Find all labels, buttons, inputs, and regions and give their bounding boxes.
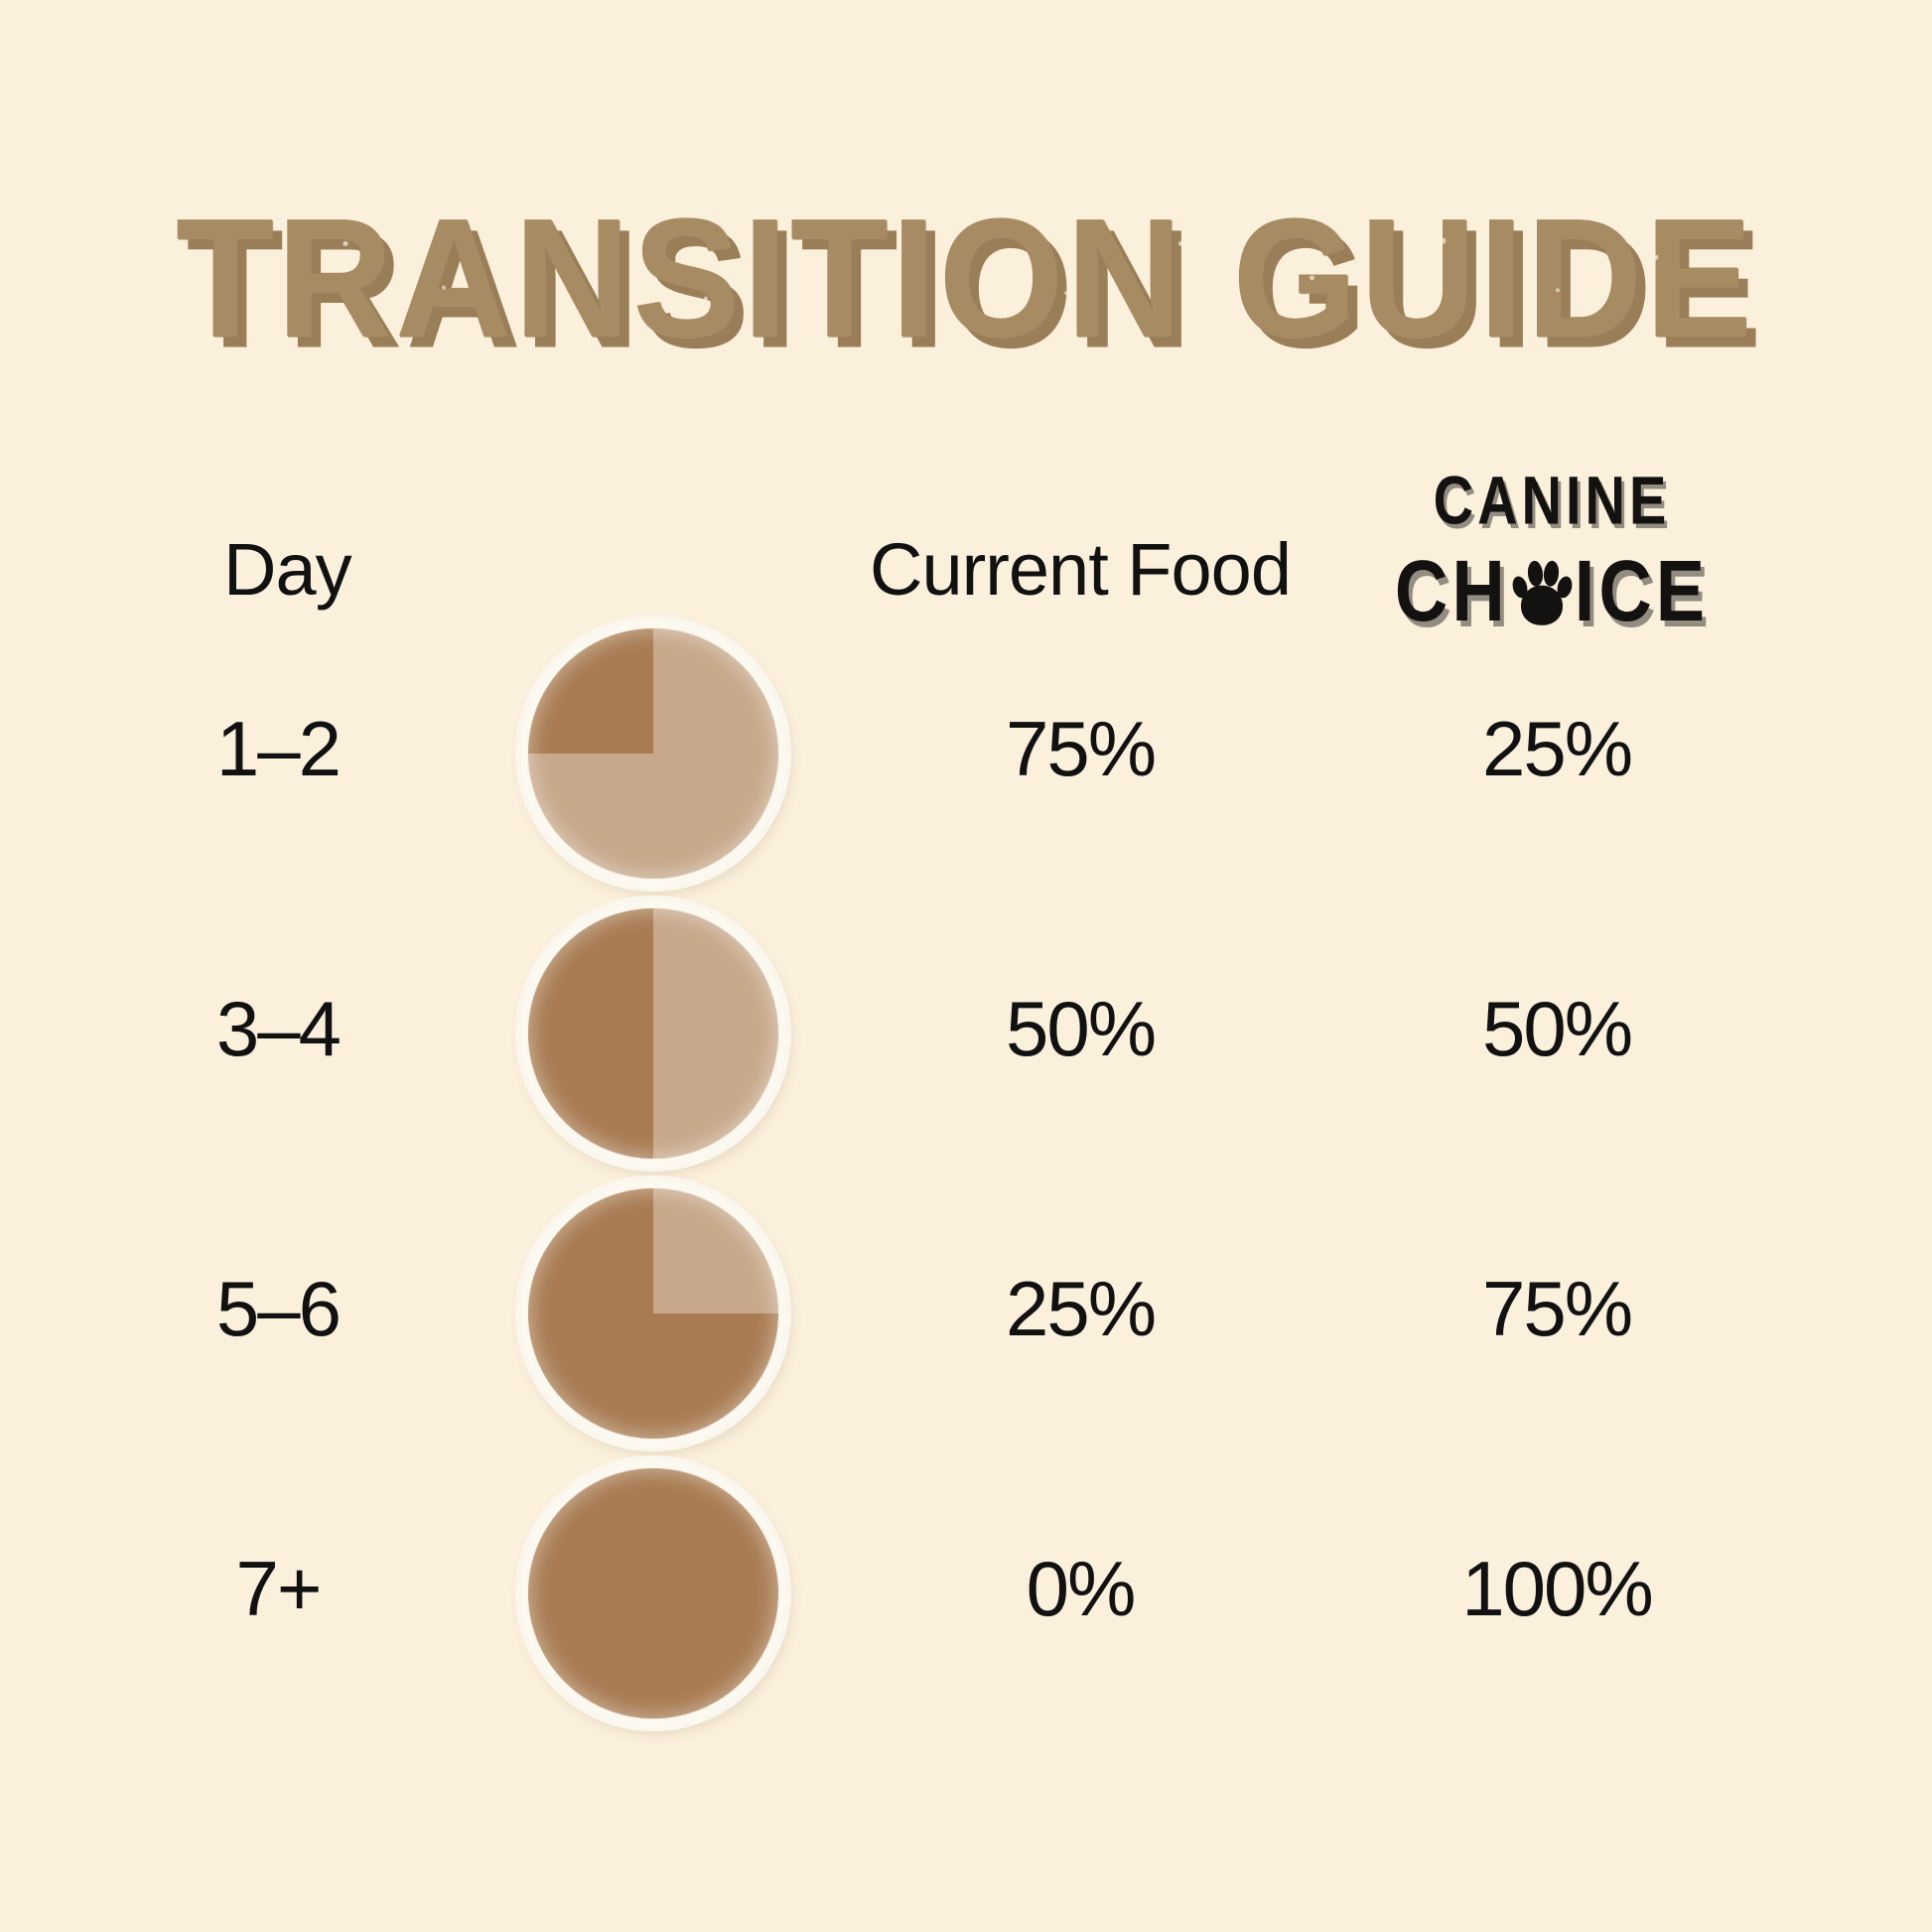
cell-current-food-percent: 0%	[862, 1544, 1299, 1634]
bowl-3	[520, 1180, 786, 1447]
brand-logo-line-canine: CANINE	[1378, 468, 1725, 533]
page-title-container: TRANSITION GUIDE	[0, 195, 1932, 344]
bowl-4	[520, 1460, 786, 1726]
bowl-2	[520, 900, 786, 1167]
table-row: 3–4 50% 50%	[0, 900, 1932, 1180]
kibble-bowl-image	[520, 1180, 786, 1447]
transition-guide-table: Day Current Food CANINE CH ICE 1–2	[0, 501, 1932, 1740]
cell-new-food-percent: 50%	[1338, 984, 1775, 1074]
table-row: 1–2 75% 25%	[0, 621, 1932, 900]
table-row: 5–6 25% 75%	[0, 1180, 1932, 1460]
column-header-current-food: Current Food	[862, 527, 1299, 612]
cell-current-food-percent: 75%	[862, 704, 1299, 794]
bowl-1	[520, 621, 786, 887]
kibble-bowl-image	[520, 621, 786, 887]
brand-logo-line-choice: CH ICE	[1378, 549, 1725, 632]
brand-logo: CANINE CH ICE	[1378, 480, 1725, 623]
paw-print-icon	[1511, 554, 1573, 626]
kibble-bowl-image	[520, 1460, 786, 1726]
brand-logo-choice-right: ICE	[1575, 549, 1709, 632]
cell-current-food-percent: 25%	[862, 1264, 1299, 1354]
table-header-row: Day Current Food CANINE CH ICE	[0, 501, 1932, 621]
cell-current-food-percent: 50%	[862, 984, 1299, 1074]
cell-new-food-percent: 100%	[1338, 1544, 1775, 1634]
brand-logo-choice-left: CH	[1395, 549, 1509, 632]
cell-new-food-percent: 75%	[1338, 1264, 1775, 1354]
cell-day: 5–6	[129, 1264, 427, 1354]
cell-new-food-percent: 25%	[1338, 704, 1775, 794]
cell-day: 1–2	[129, 704, 427, 794]
cell-day: 7+	[129, 1544, 427, 1634]
page-title: TRANSITION GUIDE	[177, 195, 1755, 363]
kibble-new-food	[527, 1467, 779, 1720]
column-header-day: Day	[223, 527, 351, 612]
kibble-bowl-image	[520, 900, 786, 1167]
cell-day: 3–4	[129, 984, 427, 1074]
table-row: 7+ 0% 100%	[0, 1460, 1932, 1740]
